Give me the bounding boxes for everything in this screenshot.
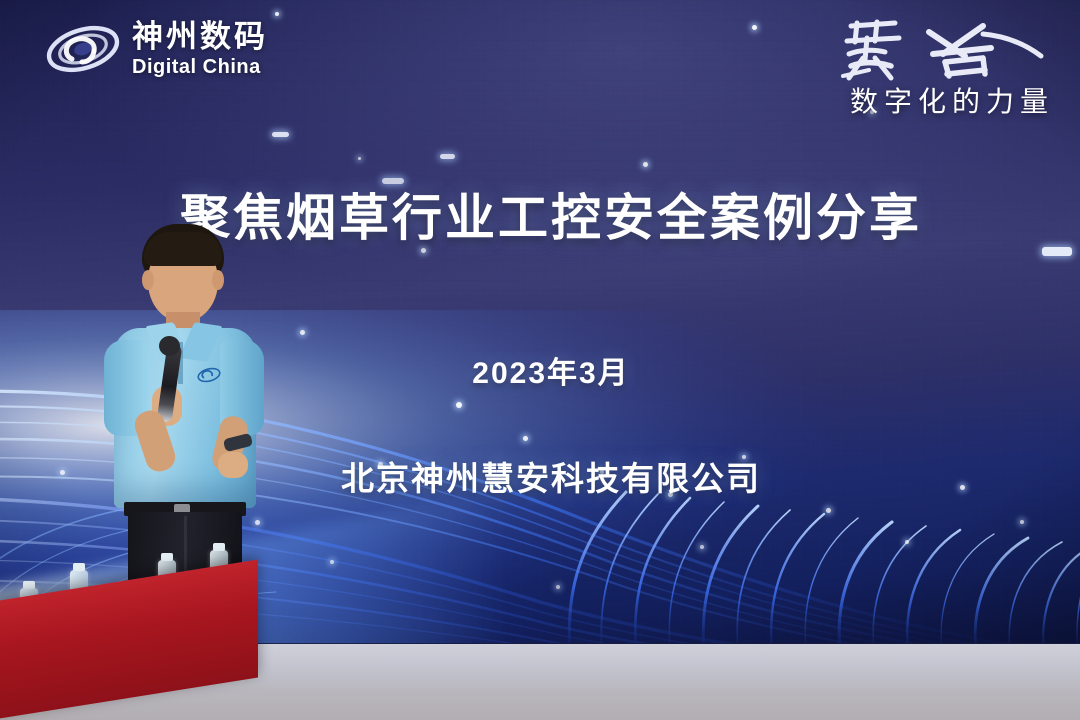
event-tagline: 数字化的力量 — [833, 80, 1054, 120]
bottle-cap — [161, 553, 173, 561]
digital-china-swirl-icon — [44, 18, 122, 80]
bottle-cap — [23, 581, 35, 589]
juhe-calligraphy-icon — [833, 14, 1048, 86]
speaker-ear-right — [212, 270, 224, 290]
bottle-cap — [73, 563, 85, 571]
shirt-chest-logo-icon — [196, 366, 222, 384]
speaker-ear-left — [142, 270, 154, 290]
digital-china-name-cn: 神州数码 — [132, 21, 268, 52]
foreground-panel-table — [0, 590, 270, 720]
digital-china-logo: 神州数码 Digital China — [44, 18, 268, 80]
speaker-hand-right — [218, 452, 248, 478]
conference-photo: 神州数码 Digital China — [0, 0, 1080, 720]
event-logo: 数字化的力量 — [833, 14, 1054, 120]
digital-china-name-en: Digital China — [132, 57, 268, 77]
speaker-hair-front — [144, 232, 222, 266]
bottle-cap — [213, 543, 225, 551]
digital-china-wordmark: 神州数码 Digital China — [132, 21, 268, 77]
